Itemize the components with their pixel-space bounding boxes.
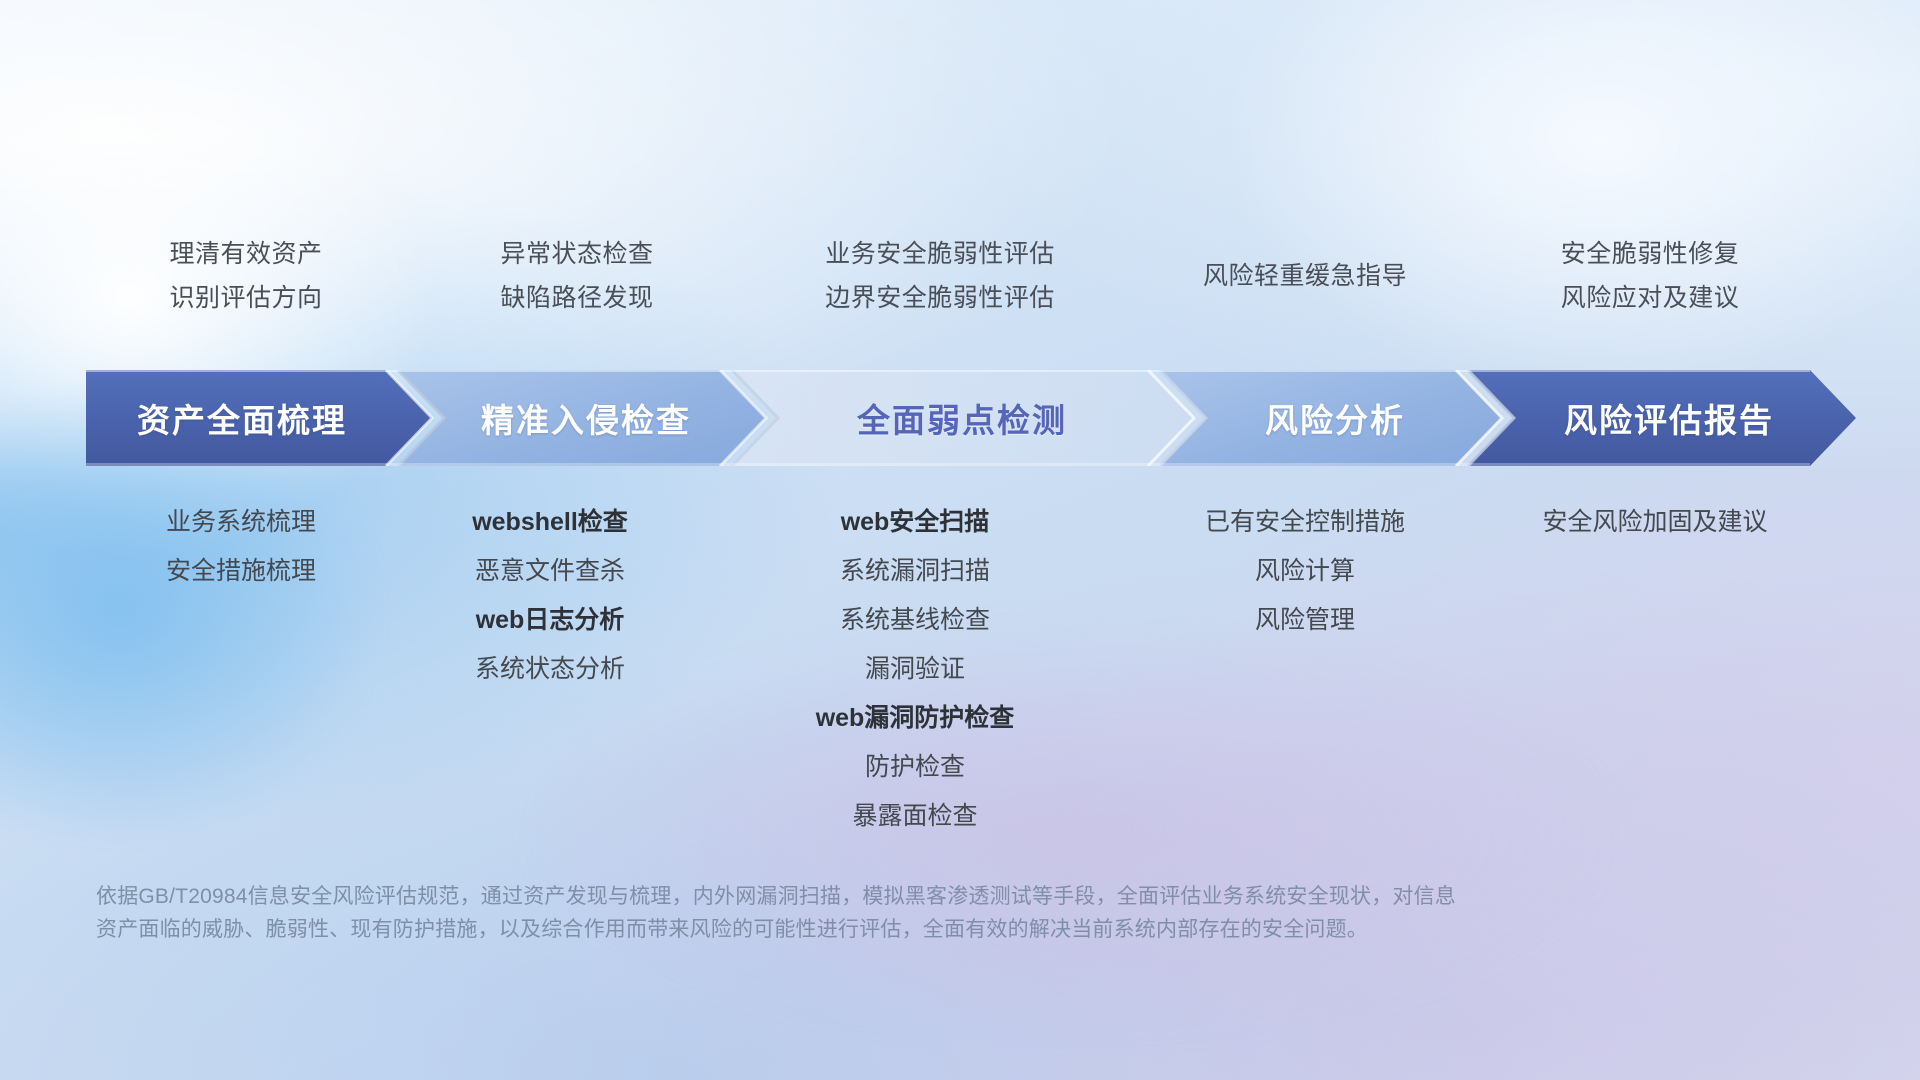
- bottom-point: 安全措施梳理: [86, 547, 396, 596]
- stage-label-weakness-detection[interactable]: 全面弱点检测: [762, 370, 1162, 466]
- top-points-weakness-detection: 业务安全脆弱性评估 边界安全脆弱性评估: [745, 232, 1135, 320]
- bottom-points-risk-analysis: 已有安全控制措施 风险计算 风险管理: [1140, 498, 1470, 645]
- stage-label-asset-inventory[interactable]: 资产全面梳理: [86, 370, 398, 466]
- bottom-point: web安全扫描: [700, 498, 1130, 547]
- top-points-risk-report: 安全脆弱性修复 风险应对及建议: [1480, 232, 1820, 320]
- bottom-point: 已有安全控制措施: [1140, 498, 1470, 547]
- bottom-point: 风险计算: [1140, 547, 1470, 596]
- bottom-points-weakness-detection: web安全扫描 系统漏洞扫描 系统基线检查 漏洞验证 web漏洞防护检查 防护检…: [700, 498, 1130, 841]
- top-point: 识别评估方向: [86, 276, 406, 320]
- bottom-points-asset-inventory: 业务系统梳理 安全措施梳理: [86, 498, 396, 596]
- bottom-point: 安全风险加固及建议: [1470, 498, 1840, 547]
- stage-label-risk-analysis[interactable]: 风险分析: [1190, 370, 1480, 466]
- top-point: 安全脆弱性修复: [1480, 232, 1820, 276]
- bottom-point: 防护检查: [700, 743, 1130, 792]
- top-point: 理清有效资产: [86, 232, 406, 276]
- process-flow-diagram: 理清有效资产 识别评估方向 异常状态检查 缺陷路径发现 业务安全脆弱性评估 边界…: [0, 0, 1920, 1080]
- bottom-point: 漏洞验证: [700, 645, 1130, 694]
- footer-caption: 依据GB/T20984信息安全风险评估规范，通过资产发现与梳理，内外网漏洞扫描，…: [96, 880, 1796, 946]
- caption-line-2: 资产面临的威胁、脆弱性、现有防护措施，以及综合作用而带来风险的可能性进行评估，全…: [96, 913, 1796, 946]
- top-points-risk-analysis: 风险轻重缓急指导: [1135, 254, 1475, 298]
- bottom-point: 系统漏洞扫描: [700, 547, 1130, 596]
- bottom-points-risk-report: 安全风险加固及建议: [1470, 498, 1840, 547]
- stage-title: 风险分析: [1265, 394, 1405, 442]
- stage-title: 精准入侵检查: [481, 394, 691, 442]
- stage-title: 风险评估报告: [1564, 394, 1774, 442]
- bottom-points-intrusion-check: webshell检查 恶意文件查杀 web日志分析 系统状态分析: [400, 498, 700, 694]
- bottom-point: 系统基线检查: [700, 596, 1130, 645]
- stage-label-intrusion-check[interactable]: 精准入侵检查: [426, 370, 746, 466]
- top-point: 风险应对及建议: [1480, 276, 1820, 320]
- stage-chevron-ribbon: 资产全面梳理 精准入侵检查 全面弱点检测 风险分析 风险评估报告: [86, 370, 1856, 466]
- top-point: 业务安全脆弱性评估: [745, 232, 1135, 276]
- stage-title: 全面弱点检测: [857, 394, 1067, 442]
- top-point: 异常状态检查: [412, 232, 742, 276]
- bottom-point: 业务系统梳理: [86, 498, 396, 547]
- caption-line-1: 依据GB/T20984信息安全风险评估规范，通过资产发现与梳理，内外网漏洞扫描，…: [96, 880, 1796, 913]
- stage-top-descriptions: 理清有效资产 识别评估方向 异常状态检查 缺陷路径发现 业务安全脆弱性评估 边界…: [0, 232, 1920, 352]
- stage-label-risk-report[interactable]: 风险评估报告: [1504, 370, 1834, 466]
- top-points-asset-inventory: 理清有效资产 识别评估方向: [86, 232, 406, 320]
- bottom-point: webshell检查: [400, 498, 700, 547]
- bottom-point: 系统状态分析: [400, 645, 700, 694]
- bottom-point: web日志分析: [400, 596, 700, 645]
- bottom-point: 暴露面检查: [700, 792, 1130, 841]
- top-point: 缺陷路径发现: [412, 276, 742, 320]
- top-point: 边界安全脆弱性评估: [745, 276, 1135, 320]
- bottom-point: 风险管理: [1140, 596, 1470, 645]
- top-points-intrusion-check: 异常状态检查 缺陷路径发现: [412, 232, 742, 320]
- stage-title: 资产全面梳理: [137, 394, 347, 442]
- top-point: 风险轻重缓急指导: [1135, 254, 1475, 298]
- bottom-point: 恶意文件查杀: [400, 547, 700, 596]
- bottom-point: web漏洞防护检查: [700, 694, 1130, 743]
